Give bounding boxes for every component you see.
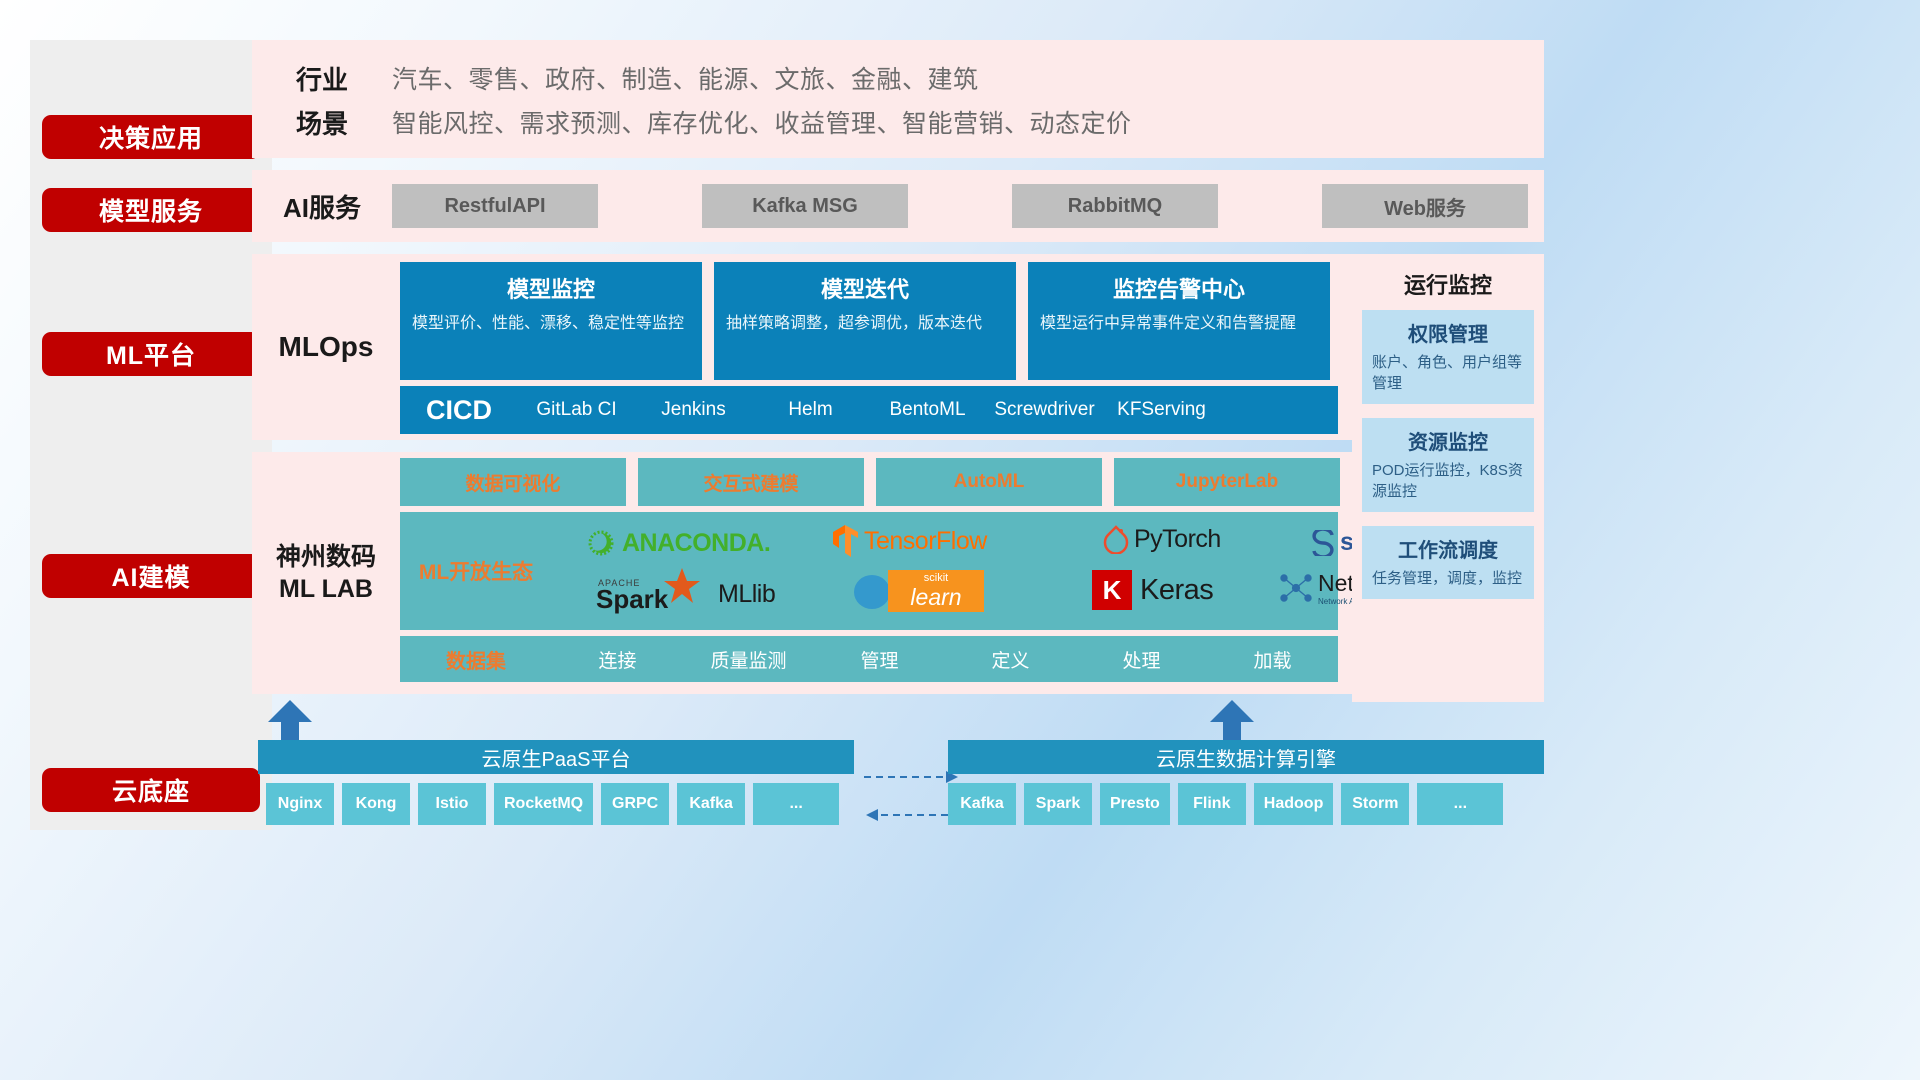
industry-scenario-band: 行业 汽车、零售、政府、制造、能源、文旅、金融、建筑 场景 智能风控、需求预测、… [252,40,1544,158]
rail-item-model-service[interactable]: 模型服务 [42,188,260,232]
rail-item-label: 云底座 [112,772,190,808]
architecture-main: 行业 汽车、零售、政府、制造、能源、文旅、金融、建筑 场景 智能风控、需求预测、… [252,40,1544,694]
engine-chip-hadoop[interactable]: Hadoop [1254,783,1334,825]
card-title: 模型迭代 [726,272,1004,304]
engine-chip-presto[interactable]: Presto [1100,783,1170,825]
industry-value: 汽车、零售、政府、制造、能源、文旅、金融、建筑 [392,60,979,96]
cloud-base-section: 云原生PaaS平台 云原生数据计算引擎 Nginx Kong Istio Roc… [258,735,1544,845]
ai-service-band: AI服务 RestfulAPI Kafka MSG RabbitMQ Web服务 [252,170,1544,242]
paas-chip-list: Nginx Kong Istio RocketMQ GRPC Kafka ... [266,783,839,825]
rail-item-decision-app[interactable]: 决策应用 [42,115,260,159]
spark-label: Spark [596,584,668,615]
pytorch-mark [1102,524,1130,554]
scenario-label: 场景 [252,104,392,141]
ai-service-web[interactable]: Web服务 [1322,184,1528,228]
rr-card-title: 权限管理 [1372,318,1524,347]
rail-item-label: AI建模 [111,558,190,594]
anaconda-label: ANACONDA. [622,529,770,558]
mllib-label: MLlib [718,580,775,609]
rr-card-title: 资源监控 [1372,426,1524,455]
dataset-item-process[interactable]: 处理 [1076,646,1207,673]
keras-label: Keras [1140,574,1213,607]
scikit-learn-badge: scikit learn [888,570,984,612]
tool-automl[interactable]: AutoML [876,458,1102,506]
rr-card-permission-management[interactable]: 权限管理 账户、角色、用户组等管理 [1362,310,1534,404]
mlops-band: MLOps 模型监控 模型评价、性能、漂移、稳定性等监控 模型迭代 抽样策略调整… [252,254,1544,440]
scenario-value: 智能风控、需求预测、库存优化、收益管理、智能营销、动态定价 [392,104,1132,140]
rail-item-label: 决策应用 [99,119,203,155]
scikit-label: scikit [924,572,948,584]
ml-lab-label-line1: 神州数码 [276,541,376,574]
pytorch-label: PyTorch [1134,525,1221,554]
rail-item-cloud-base[interactable]: 云底座 [42,768,260,812]
keras-logo: K Keras [1092,570,1213,610]
right-rail-runtime-monitoring: 运行监控 权限管理 账户、角色、用户组等管理 资源监控 POD运行监控，K8S资… [1352,258,1544,702]
dataset-item-quality[interactable]: 质量监测 [683,646,814,673]
paas-chip-more[interactable]: ... [753,783,839,825]
rail-item-label: 模型服务 [99,192,203,228]
right-rail-title: 运行监控 [1352,258,1544,310]
cloud-native-paas-bar[interactable]: 云原生PaaS平台 [258,740,854,774]
ai-service-rabbitmq[interactable]: RabbitMQ [1012,184,1218,228]
ml-lab-label-line2: ML LAB [276,573,376,606]
engine-chip-storm[interactable]: Storm [1341,783,1409,825]
card-desc: 模型运行中异常事件定义和告警提醒 [1040,312,1318,335]
cicd-item-helm[interactable]: Helm [752,398,869,422]
rr-card-desc: 账户、角色、用户组等管理 [1372,352,1524,394]
dataset-item-define[interactable]: 定义 [945,646,1076,673]
tool-interactive-modeling[interactable]: 交互式建模 [638,458,864,506]
dataset-item-connect[interactable]: 连接 [552,646,683,673]
cicd-item-jenkins[interactable]: Jenkins [635,398,752,422]
rail-item-label: ML平台 [106,336,196,372]
paas-chip-kong[interactable]: Kong [342,783,410,825]
paas-chip-kafka[interactable]: Kafka [677,783,745,825]
cloud-native-data-engine-bar[interactable]: 云原生数据计算引擎 [948,740,1544,774]
ai-service-kafka-msg[interactable]: Kafka MSG [702,184,908,228]
industry-row: 行业 汽车、零售、政府、制造、能源、文旅、金融、建筑 [252,56,1544,100]
anaconda-mark [586,528,616,558]
ml-lab-band: 神州数码 ML LAB 数据可视化 交互式建模 AutoML JupyterLa… [252,452,1544,694]
paas-chip-istio[interactable]: Istio [418,783,486,825]
networkx-mark [1278,570,1314,606]
cicd-strip: CICD GitLab CI Jenkins Helm BentoML Scre… [400,386,1338,434]
keras-mark-letter: K [1103,575,1122,606]
ai-service-label: AI服务 [252,188,392,225]
card-desc: 模型评价、性能、漂移、稳定性等监控 [412,312,690,335]
ai-service-box-list: RestfulAPI Kafka MSG RabbitMQ Web服务 [392,184,1528,228]
spark-star-mark [662,566,702,606]
anaconda-logo: ANACONDA. [586,528,770,558]
cicd-item-screwdriver[interactable]: Screwdriver [986,398,1103,422]
mlops-card-model-monitoring[interactable]: 模型监控 模型评价、性能、漂移、稳定性等监控 [400,262,702,380]
sas-mark [1312,530,1338,556]
pytorch-logo: PyTorch [1102,524,1221,554]
keras-mark: K [1092,570,1132,610]
tensorflow-mark [832,524,860,558]
mlops-card-alert-center[interactable]: 监控告警中心 模型运行中异常事件定义和告警提醒 [1028,262,1330,380]
cicd-item-kfserving[interactable]: KFServing [1103,398,1220,422]
industry-label: 行业 [252,60,392,97]
card-title: 监控告警中心 [1040,272,1318,304]
rr-card-title: 工作流调度 [1372,534,1524,563]
tensorflow-label: TensorFlow [864,527,987,556]
dataset-label: 数据集 [400,645,552,674]
left-rail: 决策应用 模型服务 ML平台 AI建模 云底座 [30,40,272,830]
engine-chip-kafka[interactable]: Kafka [948,783,1016,825]
paas-chip-rocketmq[interactable]: RocketMQ [494,783,593,825]
spark-mllib-logo: APACHE Spark MLlib [592,572,775,616]
engine-chip-flink[interactable]: Flink [1178,783,1246,825]
ml-open-ecosystem-label: ML开放生态 [400,556,552,586]
ecosystem-logo-group: ANACONDA. TensorFlow [552,512,1338,630]
rr-card-resource-monitoring[interactable]: 资源监控 POD运行监控，K8S资源监控 [1362,418,1534,512]
ai-service-restfulapi[interactable]: RestfulAPI [392,184,598,228]
engine-chip-list: Kafka Spark Presto Flink Hadoop Storm ..… [948,783,1503,825]
rr-card-desc: 任务管理，调度，监控 [1372,568,1524,589]
ml-lab-label: 神州数码 ML LAB [252,452,400,694]
dataset-item-manage[interactable]: 管理 [814,646,945,673]
tool-jupyterlab[interactable]: JupyterLab [1114,458,1340,506]
dataset-row: 数据集 连接 质量监测 管理 定义 处理 加载 [400,636,1338,682]
tool-data-visualization[interactable]: 数据可视化 [400,458,626,506]
rail-item-ai-modeling[interactable]: AI建模 [42,554,260,598]
rr-card-workflow-scheduling[interactable]: 工作流调度 任务管理，调度，监控 [1362,526,1534,599]
cicd-item-gitlab-ci[interactable]: GitLab CI [518,398,635,422]
tensorflow-logo: TensorFlow [832,524,987,558]
engine-chip-more[interactable]: ... [1417,783,1503,825]
cicd-label: CICD [400,395,518,426]
card-title: 模型监控 [412,272,690,304]
rail-item-ml-platform[interactable]: ML平台 [42,332,260,376]
scikit-learn-logo: scikit learn [852,570,984,612]
mlops-card-model-iteration[interactable]: 模型迭代 抽样策略调整，超参调优，版本迭代 [714,262,1016,380]
dataset-item-load[interactable]: 加载 [1207,646,1338,673]
paas-chip-nginx[interactable]: Nginx [266,783,334,825]
card-desc: 抽样策略调整，超参调优，版本迭代 [726,312,1004,335]
mlops-label: MLOps [252,254,400,440]
ml-open-ecosystem-row: ML开放生态 ANACONDA. [400,512,1338,630]
rr-card-desc: POD运行监控，K8S资源监控 [1372,460,1524,502]
paas-chip-grpc[interactable]: GRPC [601,783,669,825]
engine-chip-spark[interactable]: Spark [1024,783,1092,825]
cicd-item-bentoml[interactable]: BentoML [869,398,986,422]
scenario-row: 场景 智能风控、需求预测、库存优化、收益管理、智能营销、动态定价 [252,100,1544,144]
learn-label: learn [910,584,961,611]
